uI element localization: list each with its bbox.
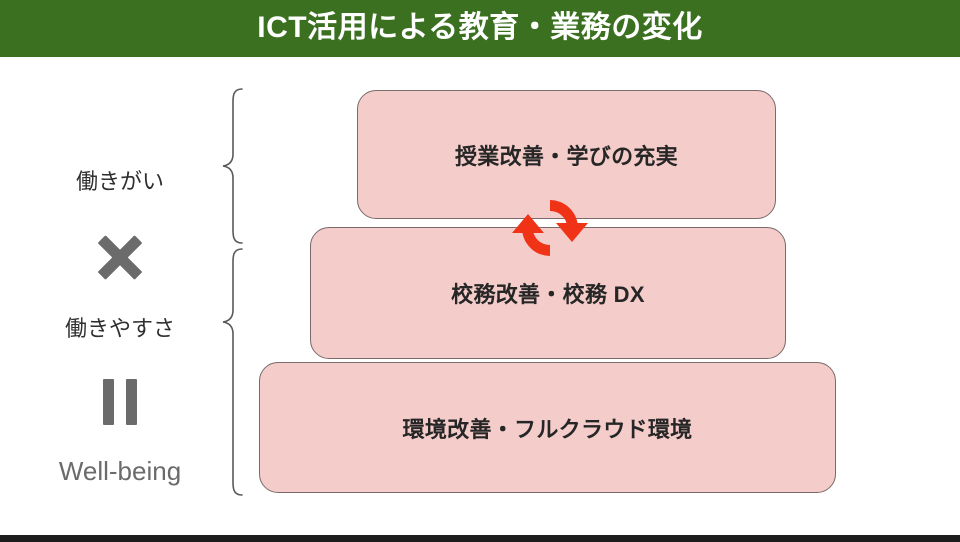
multiply-symbol [20, 229, 220, 285]
header-band: ICT活用による教育・業務の変化 [0, 0, 960, 57]
curly-brace-upper-icon [218, 86, 248, 246]
left-label-column: 働きがい 働きやすさ Well-being [20, 57, 220, 535]
footer-bar [0, 535, 960, 542]
label-hatarakigai: 働きがい [20, 164, 220, 196]
equals-stroke-b [126, 379, 137, 425]
equals-symbol [20, 375, 220, 429]
label-well-being: Well-being [20, 456, 220, 487]
circular-cycle-arrow-icon [504, 192, 596, 264]
pyramid-box-middle-label: 校務改善・校務 DX [311, 277, 785, 309]
pyramid-box-bottom-label: 環境改善・フルクラウド環境 [260, 412, 835, 444]
page-title: ICT活用による教育・業務の変化 [0, 0, 960, 57]
pyramid-box-bottom[interactable]: 環境改善・フルクラウド環境 [259, 362, 836, 493]
pyramid-box-top-label: 授業改善・学びの充実 [358, 139, 775, 171]
label-hatarakiyasusa: 働きやすさ [20, 311, 220, 343]
curly-brace-lower-icon [218, 246, 248, 498]
slide-canvas: ICT活用による教育・業務の変化 働きがい 働きやすさ Well-being 環… [0, 0, 960, 542]
equals-stroke-a [103, 379, 114, 425]
